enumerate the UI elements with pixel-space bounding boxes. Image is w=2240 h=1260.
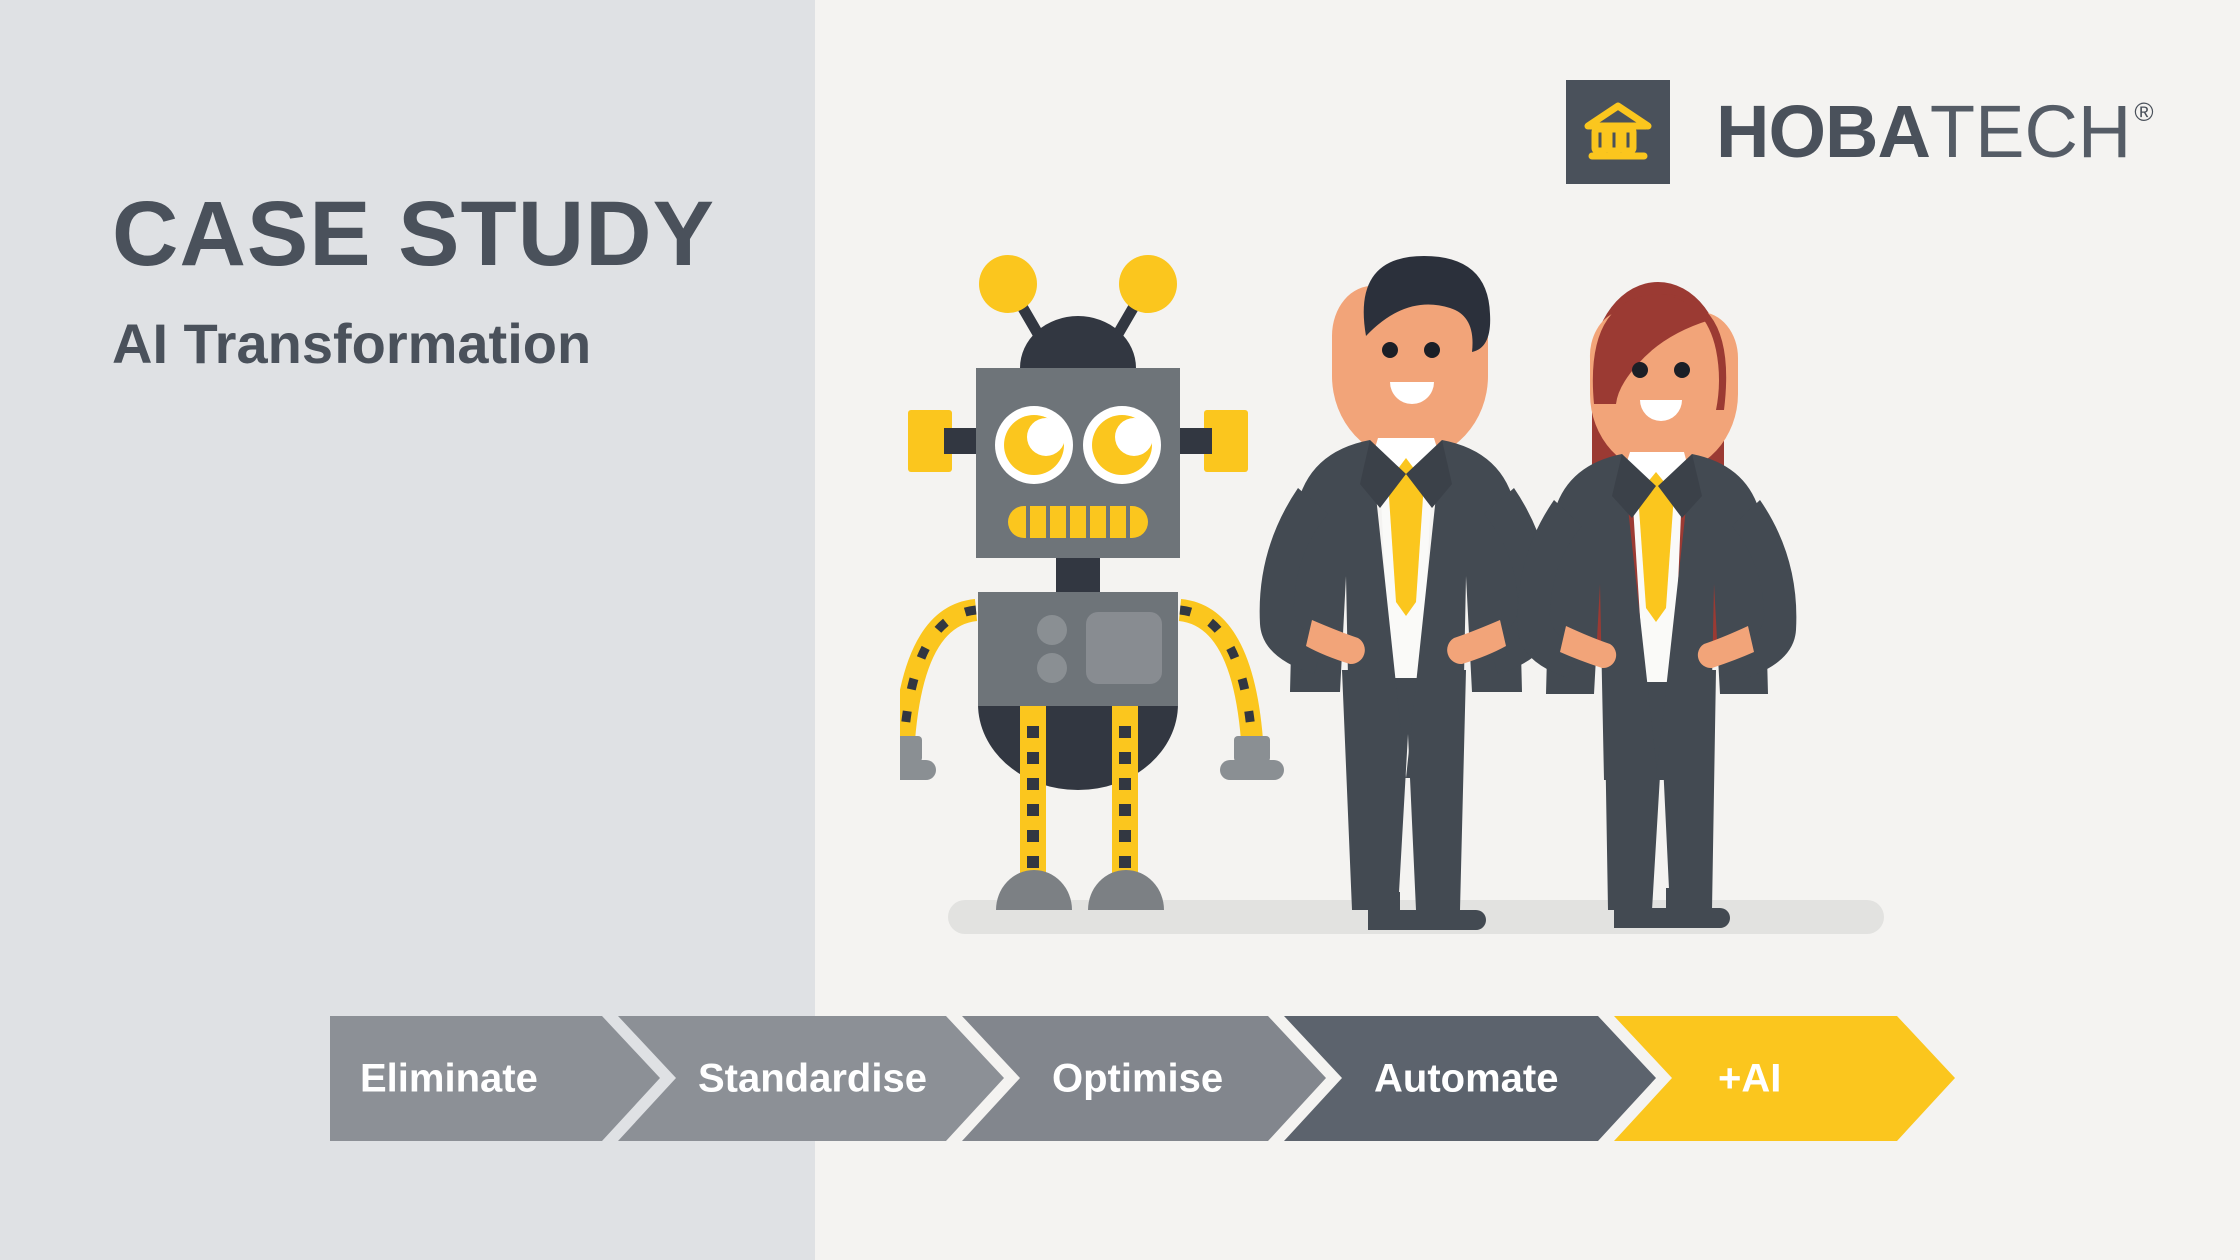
logo-mark <box>1566 80 1670 184</box>
robot-button-bottom <box>1037 653 1067 683</box>
robot-mouth <box>1008 506 1148 538</box>
man-eye-left <box>1382 342 1398 358</box>
process-step-plus-ai[interactable]: +AI <box>1614 1016 1955 1141</box>
antenna-ball-right <box>1119 255 1177 313</box>
robot-foot-left <box>996 870 1072 910</box>
process-step-standardise[interactable]: Standardise <box>618 1016 1004 1141</box>
hero-illustration <box>900 240 1920 980</box>
slide-canvas: CASE STUDY AI Transformation HOBA TECH ® <box>0 0 2240 1260</box>
robot-torso-bottom <box>978 704 1178 790</box>
registered-mark: ® <box>2134 99 2152 125</box>
process-step-label-4: Automate <box>1374 1057 1558 1101</box>
logo-wordmark: HOBA TECH ® <box>1716 95 2153 169</box>
process-step-eliminate[interactable]: Eliminate <box>330 1016 660 1141</box>
robot-character <box>900 255 1284 910</box>
chevron-shape-5 <box>1614 1016 1955 1141</box>
antenna-ball-left <box>979 255 1037 313</box>
man-eye-right <box>1424 342 1440 358</box>
process-step-optimise[interactable]: Optimise <box>962 1016 1326 1141</box>
robot-screen-panel <box>1086 612 1162 684</box>
process-step-label-1: Eliminate <box>360 1057 538 1101</box>
robot-button-top <box>1037 615 1067 645</box>
logo-word-tech: TECH <box>1930 95 2131 169</box>
page-title: CASE STUDY <box>112 188 812 280</box>
robot-foot-right <box>1088 870 1164 910</box>
businessman-character <box>1260 256 1553 930</box>
process-step-automate[interactable]: Automate <box>1284 1016 1656 1141</box>
robot-neck <box>1056 558 1100 592</box>
businesswoman-character <box>1518 282 1797 928</box>
robot-ear-stem-left <box>944 428 980 454</box>
process-step-label-2: Standardise <box>698 1057 927 1101</box>
logo-word-hoba: HOBA <box>1716 95 1930 169</box>
woman-eye-left <box>1632 362 1648 378</box>
robot-ear-stem-right <box>1176 428 1212 454</box>
process-step-label-3: Optimise <box>1052 1057 1223 1101</box>
woman-eye-right <box>1674 362 1690 378</box>
process-bar: Eliminate Standardise Optimise Automate … <box>330 1016 1955 1141</box>
bank-building-icon <box>1582 99 1654 165</box>
headline-block: CASE STUDY AI Transformation <box>112 188 812 372</box>
page-subtitle: AI Transformation <box>112 316 812 372</box>
process-step-label-5: +AI <box>1718 1057 1781 1101</box>
brand-logo[interactable]: HOBA TECH ® <box>1566 80 2153 184</box>
